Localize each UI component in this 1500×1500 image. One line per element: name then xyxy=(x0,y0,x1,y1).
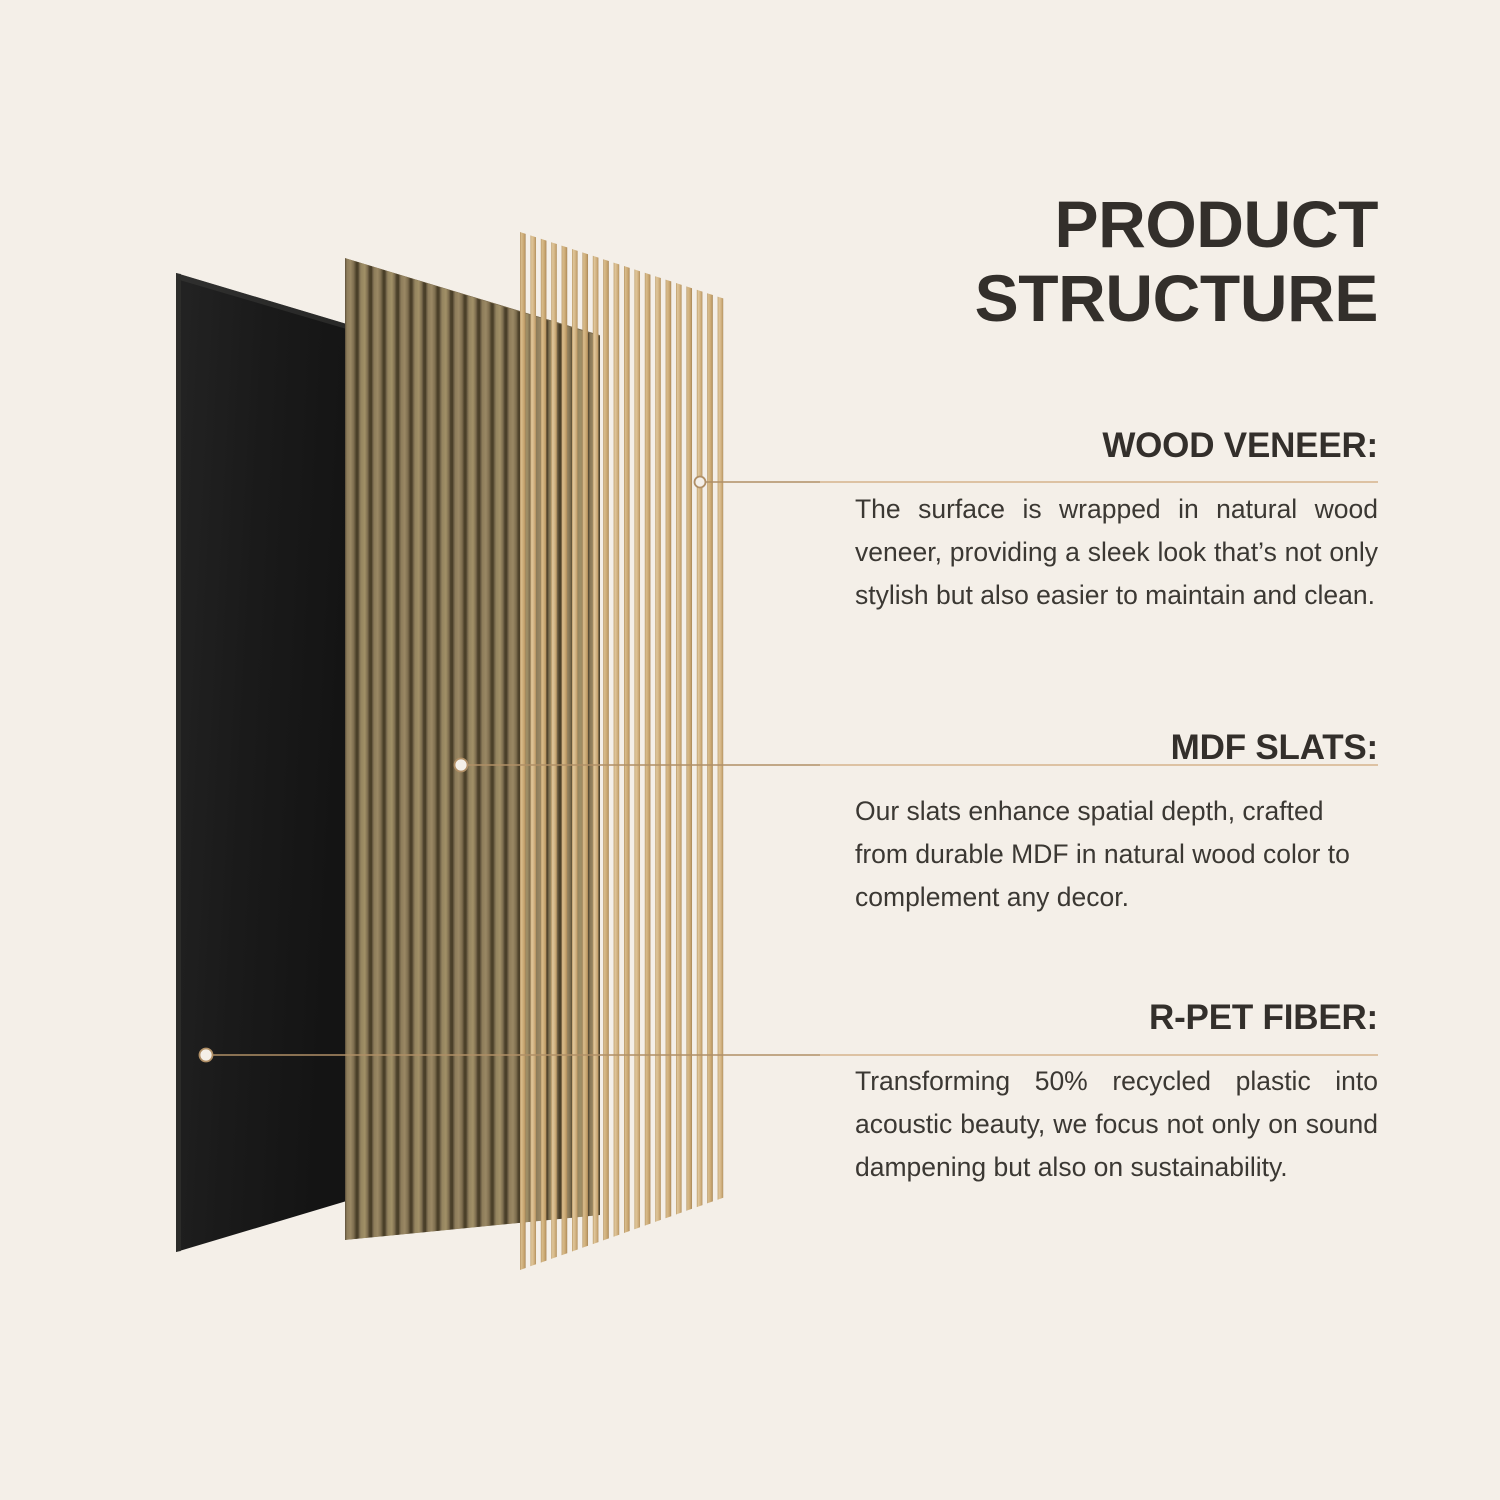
wood-veneer-slat xyxy=(645,273,651,1226)
wood-veneer-slat xyxy=(718,297,724,1200)
section-body-mdf-slats: Our slats enhance spatial depth, crafted… xyxy=(855,790,1378,919)
wood-veneer-slat xyxy=(634,269,640,1229)
mdf-slat xyxy=(399,275,410,1235)
mdf-slat-groove xyxy=(423,282,426,1233)
section-body-r-pet-fiber: Transforming 50% recycled plastic into a… xyxy=(855,1060,1378,1189)
infographic-canvas: PRODUCT STRUCTURE WOOD VENEER: The surfa… xyxy=(0,0,1500,1500)
wood-veneer-slat xyxy=(562,246,568,1256)
mdf-slat xyxy=(480,300,491,1228)
wood-veneer-slat xyxy=(676,283,682,1215)
callout-dot-mdf-slats xyxy=(455,759,468,772)
section-heading-r-pet-fiber: R-PET FIBER: xyxy=(855,1000,1378,1035)
mdf-slat-groove xyxy=(396,274,399,1235)
callout-dot-r-pet-fiber xyxy=(200,1049,213,1062)
mdf-slat-groove xyxy=(451,290,454,1230)
wood-veneer-slat xyxy=(572,249,578,1252)
mdf-slat-groove xyxy=(599,336,602,1216)
section-heading-mdf-slats: MDF SLATS: xyxy=(855,730,1378,765)
page-title-line-2: STRUCTURE xyxy=(855,262,1378,336)
page-title-line-1: PRODUCT xyxy=(855,188,1378,262)
mdf-slat xyxy=(426,283,437,1232)
mdf-slat xyxy=(440,287,451,1231)
section-r-pet-fiber: R-PET FIBER: Transforming 50% recycled p… xyxy=(855,1000,1378,1189)
mdf-slat-groove xyxy=(505,307,508,1225)
wood-veneer-slat xyxy=(624,266,630,1233)
mdf-slat xyxy=(413,279,424,1234)
wood-veneer-slat xyxy=(655,276,661,1222)
mdf-slat xyxy=(345,258,356,1240)
wood-veneer-slat xyxy=(603,259,609,1240)
wood-veneer-slat xyxy=(582,252,588,1247)
wood-veneer-slat xyxy=(541,239,547,1263)
callout-dot-wood-veneer xyxy=(695,477,706,488)
mdf-slat xyxy=(386,270,397,1236)
section-heading-wood-veneer: WOOD VENEER: xyxy=(855,428,1378,463)
wood-veneer-slat xyxy=(551,242,557,1259)
mdf-slat-groove xyxy=(478,299,481,1228)
wood-veneer-slat xyxy=(686,286,692,1210)
mdf-slat xyxy=(507,308,518,1225)
mdf-slat xyxy=(467,295,478,1228)
mdf-slat-groove xyxy=(356,261,359,1239)
section-wood-veneer: WOOD VENEER: The surface is wrapped in n… xyxy=(855,428,1378,617)
r-pet-fiber-back-panel xyxy=(176,273,350,1252)
wood-veneer-slat xyxy=(593,256,599,1244)
mdf-slat-groove xyxy=(369,265,372,1237)
text-panel: PRODUCT STRUCTURE WOOD VENEER: The surfa… xyxy=(855,0,1378,1500)
mdf-slat-groove xyxy=(559,324,562,1220)
section-body-wood-veneer: The surface is wrapped in natural wood v… xyxy=(855,488,1378,617)
wood-veneer-slat xyxy=(707,293,713,1203)
mdf-slat xyxy=(372,266,383,1237)
page-title: PRODUCT STRUCTURE xyxy=(855,188,1378,336)
wood-veneer-slat xyxy=(666,280,672,1219)
mdf-slat-groove xyxy=(410,278,413,1234)
mdf-slat xyxy=(359,262,370,1239)
mdf-slat-groove xyxy=(383,270,386,1237)
section-mdf-slats: MDF SLATS: Our slats enhance spatial dep… xyxy=(855,730,1378,919)
mdf-slat-groove xyxy=(437,286,440,1231)
wood-veneer-slat xyxy=(614,263,620,1237)
product-structure-diagram xyxy=(0,0,820,1500)
wood-veneer-slat xyxy=(520,232,526,1270)
wood-veneer-slat xyxy=(697,290,703,1207)
wood-veneer-slat xyxy=(530,235,536,1266)
